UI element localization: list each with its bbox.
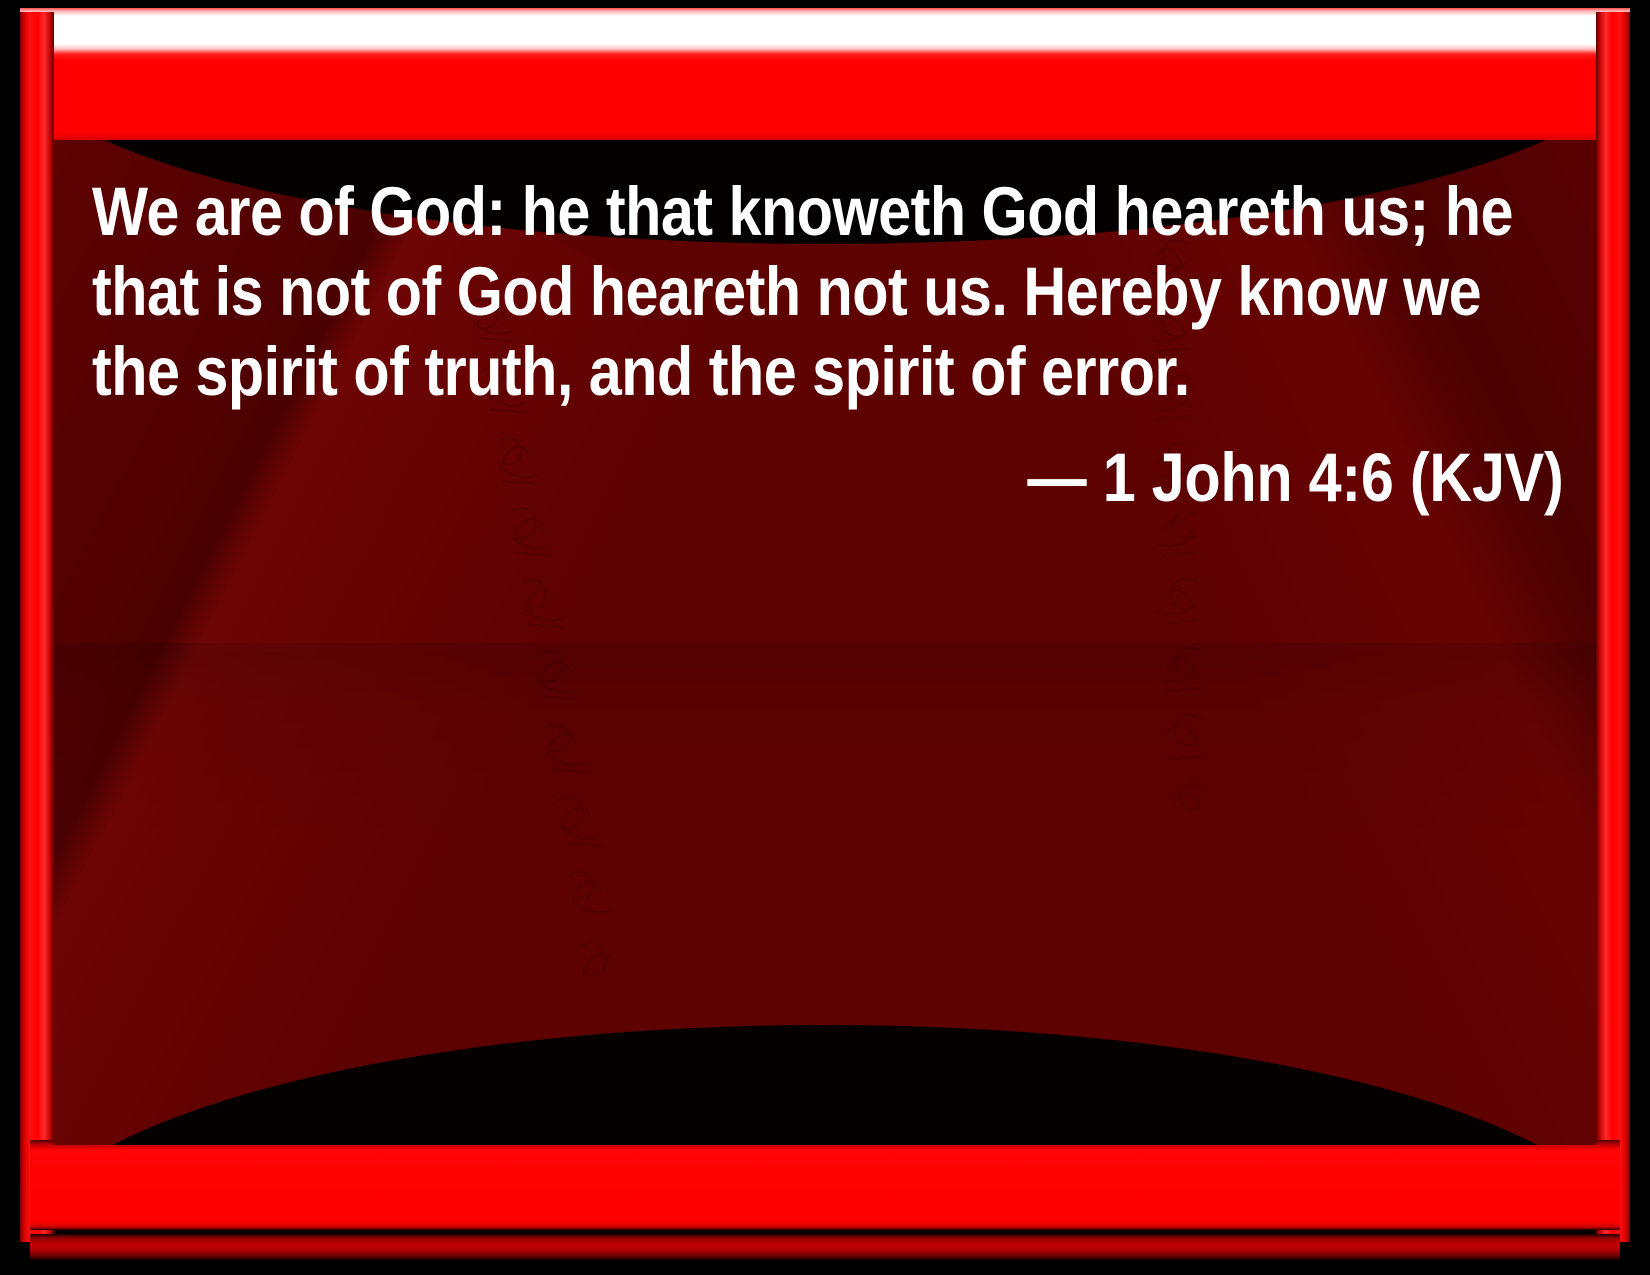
panel-gradient-band xyxy=(54,643,1596,1065)
verse-text-block: We are of God: he that knoweth God heare… xyxy=(92,172,1564,518)
frame-top-bar xyxy=(20,8,1630,144)
frame-bottom-bar xyxy=(30,1140,1620,1230)
verse-slide: We are of God: he that knoweth God heare… xyxy=(0,0,1650,1275)
frame-right-bar xyxy=(1596,12,1630,1242)
frame-left-bar xyxy=(20,12,54,1242)
verse-body-text: We are of God: he that knoweth God heare… xyxy=(92,172,1560,412)
frame-bottom-accent-bar xyxy=(30,1234,1620,1260)
verse-citation: — 1 John 4:6 (KJV) xyxy=(96,438,1564,518)
